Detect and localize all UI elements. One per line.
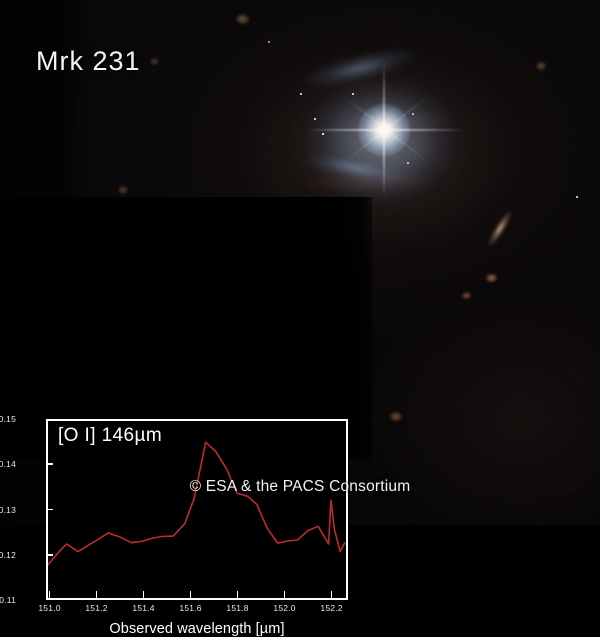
- star: [268, 41, 270, 43]
- spectrum-line-svg: [48, 421, 346, 598]
- x-axis-tick: [331, 591, 333, 600]
- y-axis-tick-label: 0.13: [0, 505, 16, 515]
- x-axis-tick-label: 151.6: [171, 603, 211, 613]
- background-galaxy: [118, 186, 128, 194]
- y-axis-tick: [46, 463, 53, 465]
- y-axis-tick-label: 0.12: [0, 550, 16, 560]
- x-axis-tick: [237, 591, 239, 600]
- x-axis-tick-label: 152.0: [265, 603, 305, 613]
- star: [300, 93, 302, 95]
- star: [314, 118, 316, 120]
- y-axis-tick-label: 0.14: [0, 459, 16, 469]
- star: [407, 162, 409, 164]
- star: [412, 113, 414, 115]
- x-axis-tick: [49, 591, 51, 600]
- page-title: Mrk 231: [36, 46, 141, 77]
- y-axis-tick: [46, 509, 53, 511]
- background-galaxy: [150, 58, 159, 65]
- background-galaxy: [536, 62, 546, 70]
- spectrum-inset-panel: [O I] 146µm 0.110.120.130.140.15 151.015…: [0, 197, 372, 459]
- x-axis-tick: [284, 591, 286, 600]
- credit-line: © ESA & the PACS Consortium: [0, 478, 600, 496]
- y-axis-tick: [46, 554, 53, 556]
- spectrum-data-line: [48, 442, 345, 565]
- background-galaxy: [390, 412, 402, 421]
- y-axis-tick-label: 0.11: [0, 595, 16, 605]
- x-axis-tick-label: 152.2: [312, 603, 352, 613]
- x-axis-tick-label: 151.0: [30, 603, 70, 613]
- x-axis-title: Observed wavelength [µm]: [14, 621, 380, 637]
- x-axis-tick: [190, 591, 192, 600]
- y-axis-tick-label: 0.15: [0, 414, 16, 424]
- x-axis-tick: [96, 591, 98, 600]
- star: [322, 133, 324, 135]
- diffraction-spike-horizontal: [306, 129, 464, 131]
- background-galaxy: [462, 292, 471, 299]
- x-axis-tick: [143, 591, 145, 600]
- diffraction-spike-vertical: [383, 62, 385, 198]
- background-galaxy: [236, 14, 249, 24]
- star: [352, 93, 354, 95]
- star: [576, 196, 578, 198]
- emission-line-label: [O I] 146µm: [58, 425, 162, 447]
- background-galaxy: [486, 274, 497, 282]
- x-axis-tick-label: 151.4: [124, 603, 164, 613]
- x-axis-tick-label: 151.8: [218, 603, 258, 613]
- x-axis-tick-label: 151.2: [77, 603, 117, 613]
